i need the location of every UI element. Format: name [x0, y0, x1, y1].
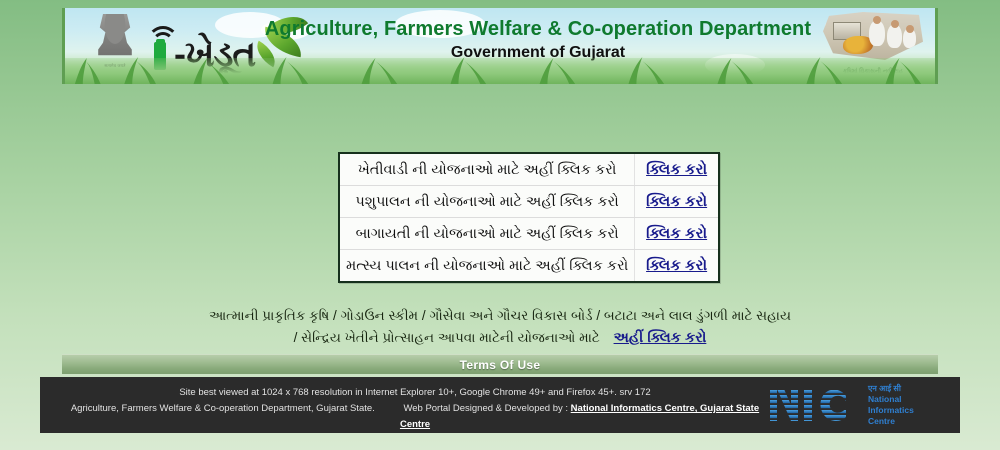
nic-logo-icon [768, 385, 860, 425]
table-row: પશુપાલન ની યોજનાઓ માટે અહીં ક્લિક કરો ક્… [339, 186, 719, 218]
person-head [873, 16, 881, 24]
nic-logo-wordmark: एन आई सी National Informatics Centre [868, 384, 914, 427]
additional-schemes-line2: / સેન્દ્રિય ખેતીને પ્રોત્સાહન આપવા માટેન… [294, 330, 600, 345]
terms-of-use-label: Terms Of Use [460, 358, 541, 372]
table-row: બાગાયતી ની યોજનાઓ માટે અહીં ક્લિક કરો ક્… [339, 218, 719, 250]
additional-schemes-line1: આત્માની પ્રાકૃતિક કૃષિ / ગોડાઉન સ્કીમ / … [209, 308, 791, 323]
scheme-label-animal-husbandry: પશુપાલન ની યોજનાઓ માટે અહીં ક્લિક કરો [339, 186, 635, 218]
department-title: Agriculture, Farmers Welfare & Co-operat… [261, 18, 815, 41]
grass-icon [65, 54, 935, 84]
scheme-label-horticulture: બાગાયતી ની યોજનાઓ માટે અહીં ક્લિક કરો [339, 218, 635, 250]
nic-hindi-text: एन आई सी [868, 384, 914, 394]
footer-department-text: Agriculture, Farmers Welfare & Co-operat… [71, 403, 375, 414]
scheme-label-fisheries: મત્સ્ય પાલન ની યોજનાઓ માટે અહીં ક્લિક કર… [339, 250, 635, 283]
footer-browser-support-text: Site best viewed at 1024 x 768 resolutio… [60, 385, 770, 401]
scheme-label-agriculture: ખેતીવાડી ની યોજનાઓ માટે અહીં ક્લિક કરો [339, 153, 635, 186]
click-here-link-fisheries[interactable]: ક્લિક કરો [646, 257, 707, 274]
page-footer: Site best viewed at 1024 x 768 resolutio… [40, 377, 960, 433]
nic-line-informatics: Informatics [868, 405, 914, 416]
scheme-link-cell-animal-husbandry: ક્લિક કરો [635, 186, 719, 218]
person-head [891, 20, 899, 28]
nic-line-centre: Centre [868, 416, 914, 427]
scheme-link-cell-horticulture: ક્લિક કરો [635, 218, 719, 250]
footer-developed-by-text: Web Portal Designed & Developed by : [403, 403, 568, 414]
nic-line-national: National [868, 394, 914, 405]
footer-text-block: Site best viewed at 1024 x 768 resolutio… [60, 385, 770, 433]
click-here-link-additional[interactable]: અહીં ક્લિક કરો [614, 330, 707, 346]
grass-decoration [65, 58, 935, 84]
nic-logo: एन आई सी National Informatics Centre [768, 383, 938, 427]
person-head [906, 25, 914, 33]
table-row: મત્સ્ય પાલન ની યોજનાઓ માટે અહીં ક્લિક કર… [339, 250, 719, 283]
scheme-links-table: ખેતીવાડી ની યોજનાઓ માટે અહીં ક્લિક કરો ક… [338, 152, 720, 283]
scheme-table-body: ખેતીવાડી ની યોજનાઓ માટે અહીં ક્લિક કરો ક… [339, 153, 719, 282]
click-here-link-horticulture[interactable]: ક્લિક કરો [646, 225, 707, 242]
footer-credits-line: Agriculture, Farmers Welfare & Co-operat… [60, 401, 770, 433]
table-row: ખેતીવાડી ની યોજનાઓ માટે અહીં ક્લિક કરો ક… [339, 153, 719, 186]
scheme-link-cell-agriculture: ક્લિક કરો [635, 153, 719, 186]
click-here-link-animal-husbandry[interactable]: ક્લિક કરો [646, 193, 707, 210]
click-here-link-agriculture[interactable]: ક્લિક કરો [646, 161, 707, 178]
collage-frame [823, 12, 923, 60]
scheme-link-cell-fisheries: ક્લિક કરો [635, 250, 719, 283]
terms-of-use-bar[interactable]: Terms Of Use [62, 354, 938, 374]
site-banner: सत्यमेव जयते -ખેડૂત Agriculture, Farmers… [62, 8, 938, 84]
additional-schemes-note: આત્માની પ્રાકૃતિક કૃષિ / ગોડાઉન સ્કીમ / … [120, 306, 880, 349]
